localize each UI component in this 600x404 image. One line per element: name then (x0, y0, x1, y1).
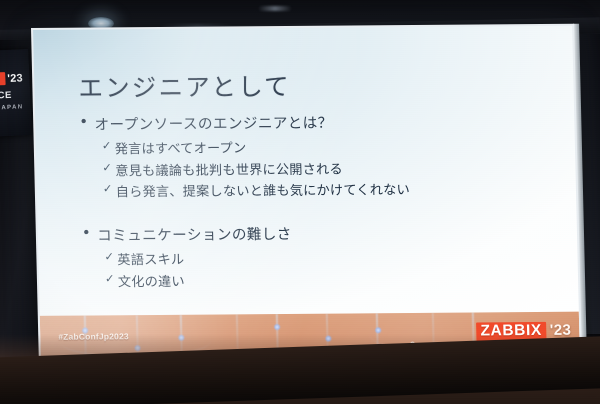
check-icon: ✓ (102, 160, 112, 174)
bullet-level2: ✓ 英語スキル (104, 246, 522, 268)
side-banner-mark-icon (0, 72, 6, 86)
bullet-level1-text: オープンソースのエンジニアとは？ (94, 112, 333, 135)
bullet-level1: • オープンソースのエンジニアとは？ (79, 110, 520, 134)
check-icon: ✓ (102, 138, 112, 152)
bullet-level2: ✓ 文化の違い (105, 268, 523, 290)
projection-screen: エンジニアとして • オープンソースのエンジニアとは？ ✓ 発言はすべてオープン… (31, 24, 582, 380)
bullet-level2-text: 自ら発言、提案しないと誰も気にかけてくれない (115, 179, 410, 200)
conference-photo: '23 NCE JAPAN エンジニアとして • オープンソースのエンジニアとは… (0, 0, 600, 404)
bullet-level2: ✓ 意見も議論も批判も世界に公開される (102, 157, 520, 179)
bullet-marker-icon: • (82, 225, 92, 242)
screen-frame: エンジニアとして • オープンソースのエンジニアとは？ ✓ 発言はすべてオープン… (31, 24, 582, 380)
side-banner-top-row: '23 (0, 71, 23, 85)
side-banner-country: JAPAN (0, 104, 24, 111)
bullet-marker-icon: • (79, 114, 89, 131)
check-icon: ✓ (105, 271, 115, 285)
check-icon: ✓ (103, 181, 113, 195)
bullet-level1: • コミュニケーションの難しさ (82, 221, 523, 245)
bullet-level2: ✓ 発言はすべてオープン (102, 135, 520, 157)
ceiling-spot-light (258, 6, 292, 11)
decor-node (274, 324, 280, 330)
slide-title: エンジニアとして (78, 68, 291, 105)
bullet-level1-text: コミュニケーションの難しさ (97, 223, 292, 246)
side-banner-conference: NCE (0, 90, 12, 102)
bullet-level2-text: 発言はすべてオープン (114, 137, 246, 157)
slide-body: • オープンソースのエンジニアとは？ ✓ 発言はすべてオープン ✓ 意見も議論も… (79, 110, 523, 290)
side-banner-year: '23 (7, 72, 23, 85)
section-spacer (81, 197, 522, 224)
bullet-level2-text: 意見も議論も批判も世界に公開される (115, 158, 343, 179)
side-banner: '23 NCE JAPAN (0, 49, 32, 137)
bullet-level2-text: 英語スキル (117, 249, 184, 269)
slide: エンジニアとして • オープンソースのエンジニアとは？ ✓ 発言はすべてオープン… (33, 26, 580, 378)
bullet-level2-text: 文化の違い (118, 270, 185, 290)
check-icon: ✓ (104, 249, 114, 263)
